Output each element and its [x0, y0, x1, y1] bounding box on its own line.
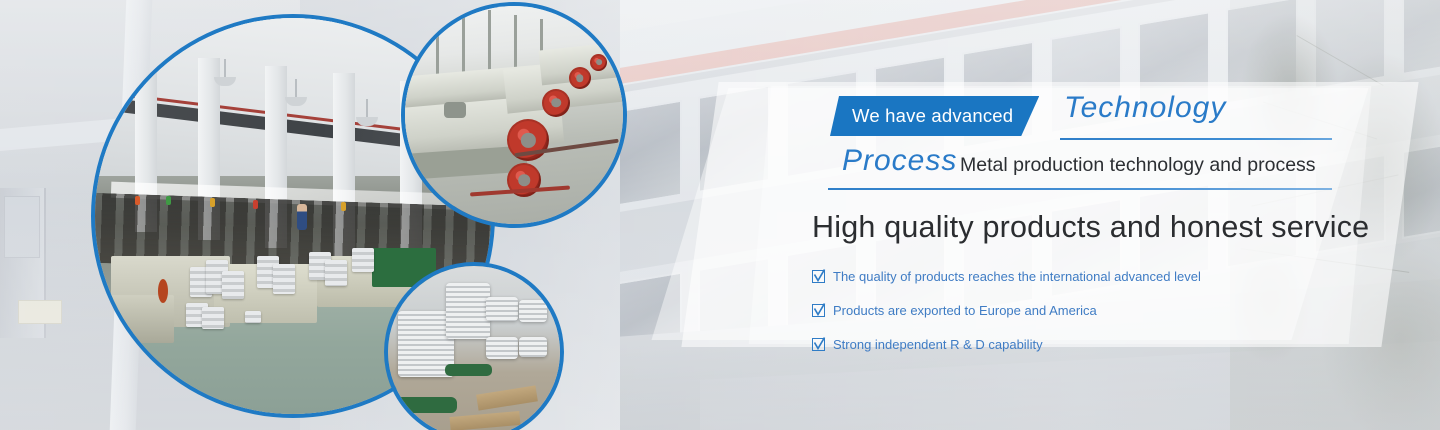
- list-item: Strong independent R & D capability: [812, 331, 1352, 358]
- checkbox-checked-icon: [812, 338, 825, 351]
- process-underline: [828, 188, 1332, 190]
- advanced-tag: We have advanced: [830, 96, 1039, 136]
- steel-wire-spools-photo: [388, 266, 560, 430]
- process-row: Process Metal production technology and …: [812, 148, 1352, 194]
- promo-banner: We have advanced Technology Process Meta…: [0, 0, 1440, 430]
- banner-content: We have advanced Technology Process Meta…: [812, 92, 1352, 365]
- keyword-process: Process: [842, 144, 957, 178]
- list-item: The quality of products reaches the inte…: [812, 263, 1352, 290]
- list-item-label: Strong independent R & D capability: [833, 337, 1043, 352]
- technology-row: We have advanced Technology: [812, 92, 1352, 142]
- technology-underline: [1060, 138, 1332, 140]
- checkbox-checked-icon: [812, 270, 825, 283]
- subtitle: Metal production technology and process: [960, 154, 1316, 177]
- feature-list: The quality of products reaches the inte…: [812, 263, 1352, 358]
- list-item: Products are exported to Europe and Amer…: [812, 297, 1352, 324]
- checkbox-checked-icon: [812, 304, 825, 317]
- keyword-technology: Technology: [1064, 91, 1226, 125]
- wire-drawing-machine-photo: [405, 6, 623, 224]
- list-item-label: Products are exported to Europe and Amer…: [833, 303, 1097, 318]
- page-title: High quality products and honest service: [812, 210, 1352, 245]
- list-item-label: The quality of products reaches the inte…: [833, 269, 1201, 284]
